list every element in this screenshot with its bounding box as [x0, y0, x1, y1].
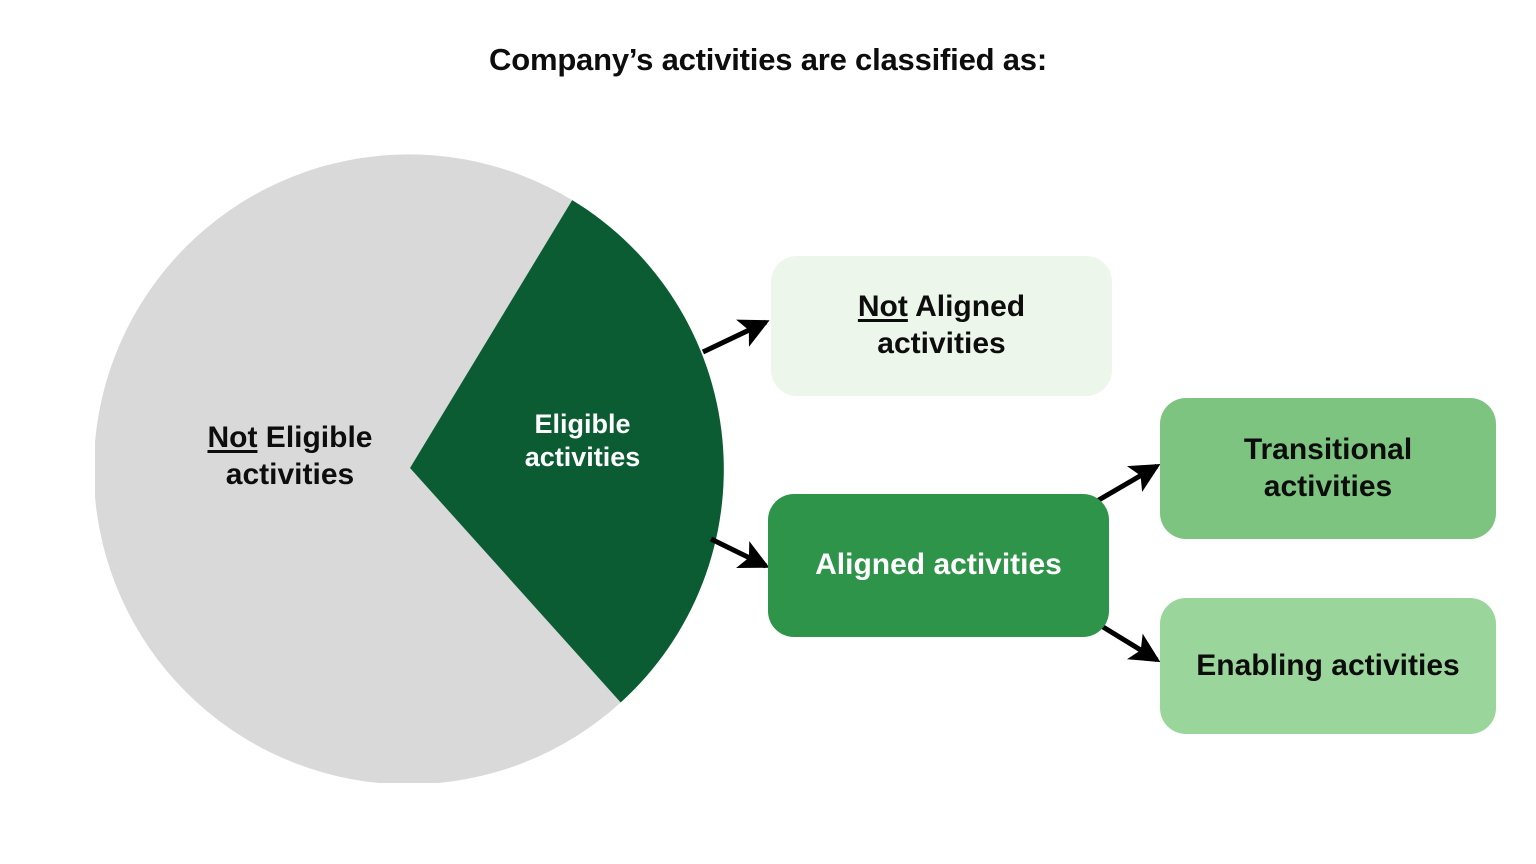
page-title: Company’s activities are classified as:	[0, 42, 1536, 78]
transitional-label-line1: Transitional	[1244, 433, 1412, 466]
pie-label-not-eligible-line2: activities	[226, 458, 354, 491]
not-aligned-label-line2: activities	[877, 327, 1005, 360]
not-aligned-label: Not Aligned activities	[858, 289, 1025, 362]
enabling-label: Enabling activities	[1196, 648, 1459, 685]
not-aligned-label-underlined: Not	[858, 290, 908, 323]
aligned-label: Aligned activities	[815, 547, 1062, 584]
diagram-canvas: Company’s activities are classified as: …	[0, 0, 1536, 864]
pie-label-eligible-line2: activities	[525, 442, 641, 472]
pie-label-not-eligible-underlined: Not	[207, 421, 257, 454]
transitional-box[interactable]: Transitional activities	[1160, 398, 1496, 539]
not-aligned-box[interactable]: Not Aligned activities	[771, 256, 1112, 396]
transitional-label: Transitional activities	[1244, 432, 1412, 505]
pie-label-not-eligible-rest: Eligible	[257, 421, 372, 454]
transitional-label-line2: activities	[1264, 470, 1392, 503]
pie-label-not-eligible: Not Eligible activities	[120, 420, 460, 493]
enabling-box[interactable]: Enabling activities	[1160, 598, 1496, 734]
not-aligned-label-rest: Aligned	[908, 290, 1025, 323]
pie-label-eligible: Eligible activities	[470, 408, 695, 474]
aligned-box[interactable]: Aligned activities	[768, 494, 1109, 637]
pie-label-eligible-line1: Eligible	[534, 409, 630, 439]
